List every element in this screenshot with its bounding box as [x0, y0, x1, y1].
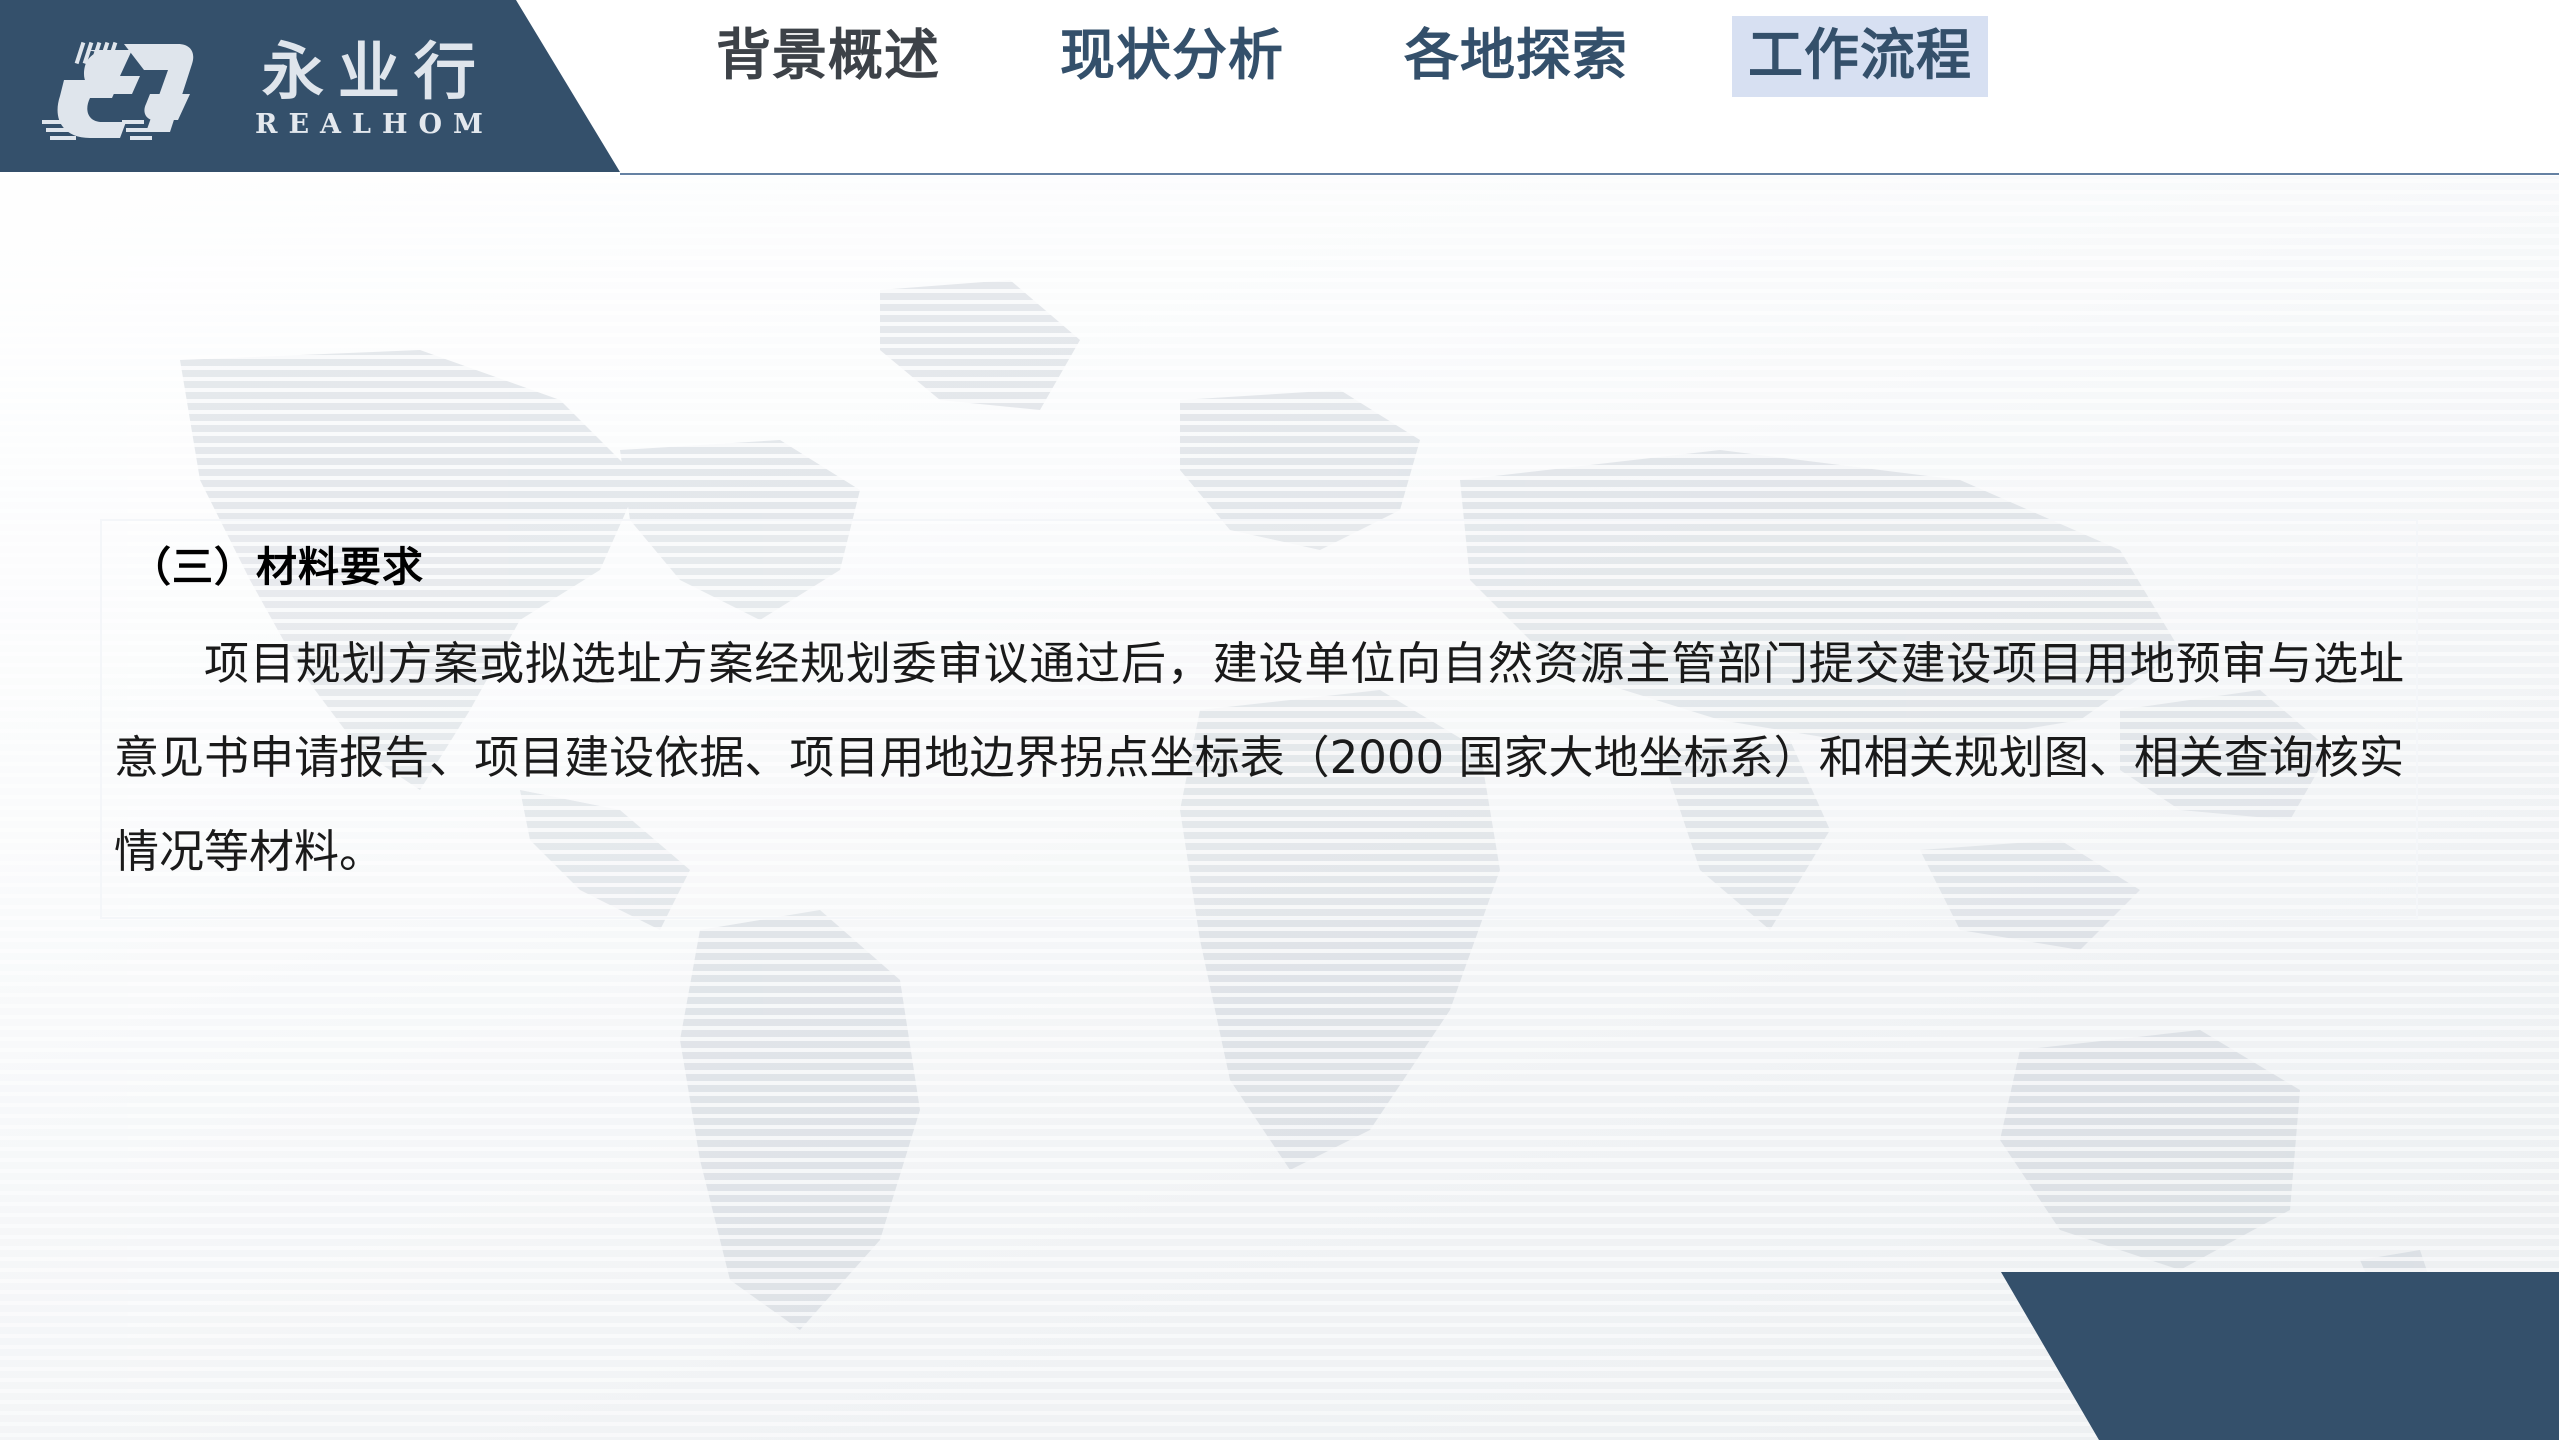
section-paragraph: 项目规划方案或拟选址方案经规划委审议通过后，建设单位向自然资源主管部门提交建设项…: [114, 617, 2404, 899]
top-navigation: 背景概述 现状分析 各地探索 工作流程: [700, 16, 1988, 96]
corner-decoration-shape: [1939, 1272, 2559, 1440]
brand-name-en: REALHOM: [244, 109, 494, 140]
section-title: （三）材料要求: [130, 533, 424, 593]
content-card: （三）材料要求 项目规划方案或拟选址方案经规划委审议通过后，建设单位向自然资源主…: [100, 519, 2418, 919]
header-divider-rule: [620, 173, 2559, 175]
tab-background-overview[interactable]: 背景概述: [700, 16, 956, 97]
realhom-yy-monogram-icon: [28, 28, 228, 148]
tab-work-process[interactable]: 工作流程: [1732, 16, 1988, 97]
brand-name-cn: 永业行: [248, 41, 490, 103]
tab-status-analysis[interactable]: 现状分析: [1044, 16, 1300, 97]
tab-regional-exploration[interactable]: 各地探索: [1388, 16, 1644, 97]
slide-root: 永业行 REALHOM 背景概述 现状分析 各地探索 工作流程 （三）材料要求 …: [0, 0, 2559, 1440]
